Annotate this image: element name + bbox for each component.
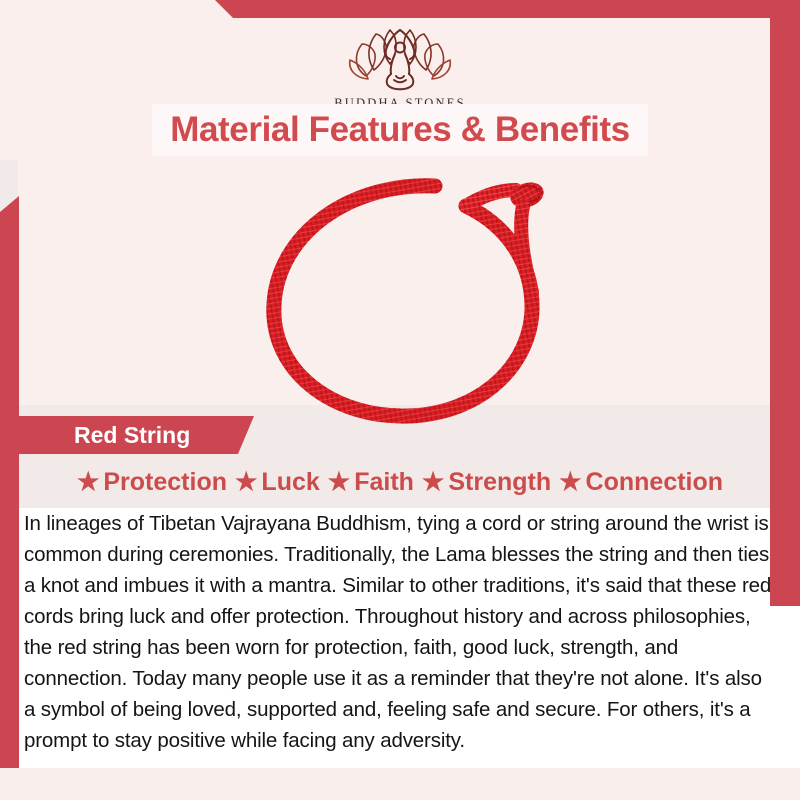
feature-item-connection: ★ Connection: [559, 468, 723, 497]
infographic-canvas: BUDDHA STONES Material Features & Benefi…: [0, 0, 800, 800]
product-name-banner: Red String: [18, 416, 254, 454]
feature-label: Faith: [354, 468, 414, 497]
lotus-meditation-icon: [332, 24, 468, 92]
background-band-footer: [0, 768, 800, 800]
feature-item-protection: ★ Protection: [77, 468, 227, 497]
feature-list: ★ Protection ★ Luck ★ Faith ★ Strength ★…: [20, 462, 780, 502]
brand-logo: BUDDHA STONES: [0, 24, 800, 111]
red-braided-string-bracelet-icon: [230, 160, 590, 438]
feature-item-strength: ★ Strength: [422, 468, 551, 497]
left-red-accent-strip: [0, 196, 19, 768]
feature-item-faith: ★ Faith: [328, 468, 414, 497]
star-icon: ★: [328, 470, 350, 495]
star-icon: ★: [422, 470, 444, 495]
feature-label: Strength: [448, 468, 551, 497]
star-icon: ★: [235, 470, 257, 495]
feature-label: Luck: [261, 468, 319, 497]
product-description: In lineages of Tibetan Vajrayana Buddhis…: [24, 508, 772, 756]
product-image: [230, 160, 590, 438]
feature-label: Protection: [103, 468, 227, 497]
star-icon: ★: [559, 470, 581, 495]
star-icon: ★: [77, 470, 99, 495]
feature-label: Connection: [586, 468, 724, 497]
page-title: Material Features & Benefits: [152, 104, 648, 156]
product-name-label: Red String: [74, 422, 190, 449]
feature-item-luck: ★ Luck: [235, 468, 320, 497]
